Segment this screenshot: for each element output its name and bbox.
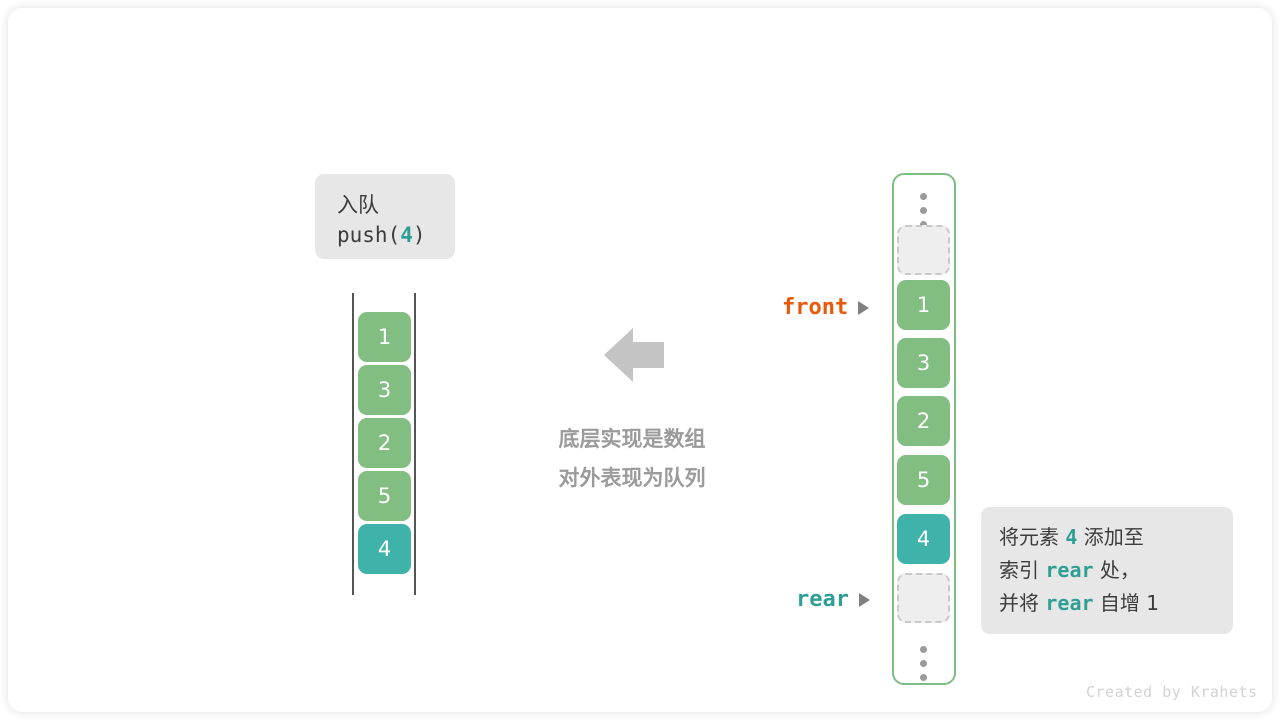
push-call-prefix: push( [337, 223, 400, 247]
queue-cell-4: 4 [358, 524, 411, 574]
queue-cell-1: 3 [358, 365, 411, 415]
push-call-value: 4 [400, 223, 413, 247]
queue-view-array: 1 3 2 5 4 [352, 293, 418, 595]
rear-pointer: rear [796, 587, 870, 612]
note-line-3-code: rear [1045, 591, 1093, 615]
note-line-1-b: 添加至 [1077, 525, 1143, 549]
array-cell-3: 5 [897, 455, 950, 505]
rear-pointer-arrow-icon [859, 593, 870, 607]
note-line-1-code: 4 [1065, 525, 1077, 549]
bottom-ellipsis-icon [920, 646, 927, 681]
note-line-1-a: 将元素 [999, 525, 1065, 549]
transform-caption-line-1: 底层实现是数组 [508, 420, 756, 459]
transform-arrow-left-icon [604, 326, 664, 389]
note-line-3-a: 并将 [999, 591, 1045, 615]
note-line-1: 将元素 4 添加至 [999, 521, 1233, 554]
array-cell-empty-bottom [897, 573, 950, 623]
queue-cell-0: 1 [358, 312, 411, 362]
note-line-2: 索引 rear 处， [999, 554, 1233, 587]
queue-view-left-rail [352, 293, 354, 595]
rear-pointer-label: rear [796, 587, 849, 612]
operation-note: 将元素 4 添加至 索引 rear 处， 并将 rear 自增 1 [981, 507, 1233, 634]
diagram-canvas: 入队 push(4) 1 3 2 5 4 底层实现是数组 对外表现为队列 1 3… [8, 8, 1272, 712]
array-cell-2: 2 [897, 396, 950, 446]
top-ellipsis-icon [920, 193, 927, 228]
push-call-signature: push(4) [337, 220, 455, 250]
push-call-suffix: ) [413, 223, 426, 247]
array-cell-empty-top [897, 225, 950, 275]
note-line-2-code: rear [1045, 558, 1093, 582]
queue-cell-3: 5 [358, 471, 411, 521]
transform-caption-line-2: 对外表现为队列 [508, 459, 756, 498]
note-line-3: 并将 rear 自增 1 [999, 587, 1233, 620]
push-operation-label: 入队 push(4) [315, 174, 455, 259]
front-pointer-arrow-icon [858, 301, 869, 315]
note-line-2-a: 索引 [999, 558, 1045, 582]
queue-cell-2: 2 [358, 418, 411, 468]
credit-text: Created by Krahets [1086, 683, 1258, 701]
backing-array-container: 1 3 2 5 4 [892, 173, 956, 685]
front-pointer: front [782, 295, 869, 320]
array-cell-0: 1 [897, 280, 950, 330]
array-cell-4: 4 [897, 514, 950, 564]
queue-view-right-rail [414, 293, 416, 595]
note-line-3-b: 自增 1 [1094, 591, 1159, 615]
array-cell-1: 3 [897, 338, 950, 388]
transform-caption: 底层实现是数组 对外表现为队列 [508, 420, 756, 498]
note-line-2-b: 处， [1094, 558, 1140, 582]
front-pointer-label: front [782, 295, 848, 320]
push-operation-title: 入队 [337, 190, 455, 220]
